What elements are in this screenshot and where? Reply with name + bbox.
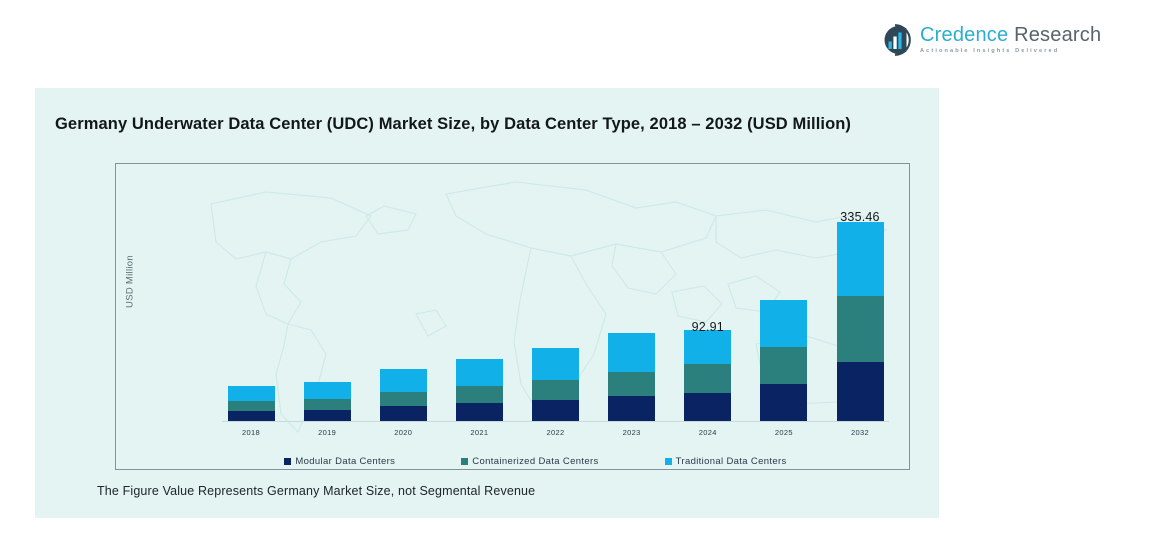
- bar-column-2020[interactable]: [374, 369, 432, 421]
- plot-inner: 92.91 335.46: [174, 174, 897, 469]
- segment-traditional[interactable]: [532, 348, 579, 380]
- legend-swatch-traditional: [665, 458, 672, 465]
- bar-column-2019[interactable]: [298, 382, 356, 421]
- bar-stack[interactable]: [532, 348, 579, 421]
- bar-column-2023[interactable]: [603, 333, 661, 421]
- bar-stack[interactable]: [456, 359, 503, 421]
- segment-modular[interactable]: [760, 384, 807, 421]
- segment-traditional[interactable]: [760, 300, 807, 347]
- x-tick-2020: 2020: [374, 423, 432, 441]
- y-axis-label: USD Million: [125, 227, 136, 337]
- legend-item-traditional[interactable]: Traditional Data Centers: [665, 456, 787, 467]
- x-tick-2023: 2023: [603, 423, 661, 441]
- x-tick-2022: 2022: [527, 423, 585, 441]
- brand-name-secondary: Research: [1014, 24, 1101, 46]
- legend-label-modular: Modular Data Centers: [295, 456, 395, 467]
- x-tick-2025: 2025: [755, 423, 813, 441]
- legend-label-containerized: Containerized Data Centers: [472, 456, 598, 467]
- chart-legend: Modular Data Centers Containerized Data …: [174, 451, 897, 470]
- brand-wordmark: Credence Research Actionable Insights De…: [920, 25, 1101, 55]
- brand-name: Credence Research: [920, 25, 1101, 45]
- x-axis-ticks: 2018 2019 2020 2021 2022 2023 2024 2025 …: [222, 423, 889, 441]
- bar-stack[interactable]: [837, 222, 884, 421]
- data-label-2024: 92.91: [692, 320, 724, 334]
- bar-stack[interactable]: [608, 333, 655, 421]
- segment-modular[interactable]: [837, 362, 884, 421]
- segment-traditional[interactable]: [380, 369, 427, 392]
- segment-modular[interactable]: [684, 393, 731, 421]
- bar-stack[interactable]: [760, 300, 807, 421]
- segment-containerized[interactable]: [304, 399, 351, 410]
- legend-item-modular[interactable]: Modular Data Centers: [284, 456, 395, 467]
- plot-area: USD Million: [115, 163, 910, 470]
- x-axis-line: [222, 421, 889, 422]
- segment-traditional[interactable]: [684, 330, 731, 364]
- bar-series-group: 92.91 335.46: [222, 174, 889, 421]
- segment-traditional[interactable]: [304, 382, 351, 399]
- chart-title: Germany Underwater Data Center (UDC) Mar…: [55, 115, 929, 134]
- segment-containerized[interactable]: [228, 401, 275, 411]
- bar-stack[interactable]: [684, 330, 731, 421]
- segment-traditional[interactable]: [608, 333, 655, 372]
- brand-tagline: Actionable Insights Delivered: [920, 49, 1101, 55]
- segment-modular[interactable]: [304, 410, 351, 421]
- legend-item-containerized[interactable]: Containerized Data Centers: [461, 456, 598, 467]
- legend-swatch-modular: [284, 458, 291, 465]
- segment-containerized[interactable]: [380, 392, 427, 406]
- bar-column-2024[interactable]: 92.91: [679, 330, 737, 421]
- x-tick-2032: 2032: [831, 423, 889, 441]
- x-tick-2021: 2021: [450, 423, 508, 441]
- segment-containerized[interactable]: [532, 380, 579, 400]
- legend-swatch-containerized: [461, 458, 468, 465]
- segment-modular[interactable]: [456, 403, 503, 421]
- segment-modular[interactable]: [228, 411, 275, 421]
- bar-column-2025[interactable]: [755, 300, 813, 421]
- bar-stack[interactable]: [380, 369, 427, 421]
- bar-column-2032[interactable]: 335.46: [831, 222, 889, 421]
- chart-footnote: The Figure Value Represents Germany Mark…: [97, 484, 535, 498]
- segment-containerized[interactable]: [684, 364, 731, 393]
- bar-chart-circle-icon: [878, 23, 912, 57]
- segment-traditional[interactable]: [837, 222, 884, 296]
- segment-containerized[interactable]: [456, 386, 503, 403]
- segment-containerized[interactable]: [837, 296, 884, 362]
- bar-stack[interactable]: [228, 386, 275, 421]
- x-tick-2019: 2019: [298, 423, 356, 441]
- segment-containerized[interactable]: [608, 372, 655, 396]
- brand-name-primary: Credence: [920, 24, 1008, 46]
- legend-label-traditional: Traditional Data Centers: [676, 456, 787, 467]
- x-tick-2018: 2018: [222, 423, 280, 441]
- segment-modular[interactable]: [380, 406, 427, 421]
- segment-modular[interactable]: [532, 400, 579, 421]
- brand-logo: Credence Research Actionable Insights De…: [878, 20, 1078, 60]
- segment-traditional[interactable]: [228, 386, 275, 401]
- x-tick-2024: 2024: [679, 423, 737, 441]
- segment-containerized[interactable]: [760, 347, 807, 384]
- chart-card: Germany Underwater Data Center (UDC) Mar…: [35, 88, 939, 518]
- bar-column-2021[interactable]: [450, 359, 508, 421]
- bar-stack[interactable]: [304, 382, 351, 421]
- data-label-2032: 335.46: [840, 210, 879, 224]
- segment-traditional[interactable]: [456, 359, 503, 386]
- segment-modular[interactable]: [608, 396, 655, 421]
- bar-column-2018[interactable]: [222, 386, 280, 421]
- bar-column-2022[interactable]: [527, 348, 585, 421]
